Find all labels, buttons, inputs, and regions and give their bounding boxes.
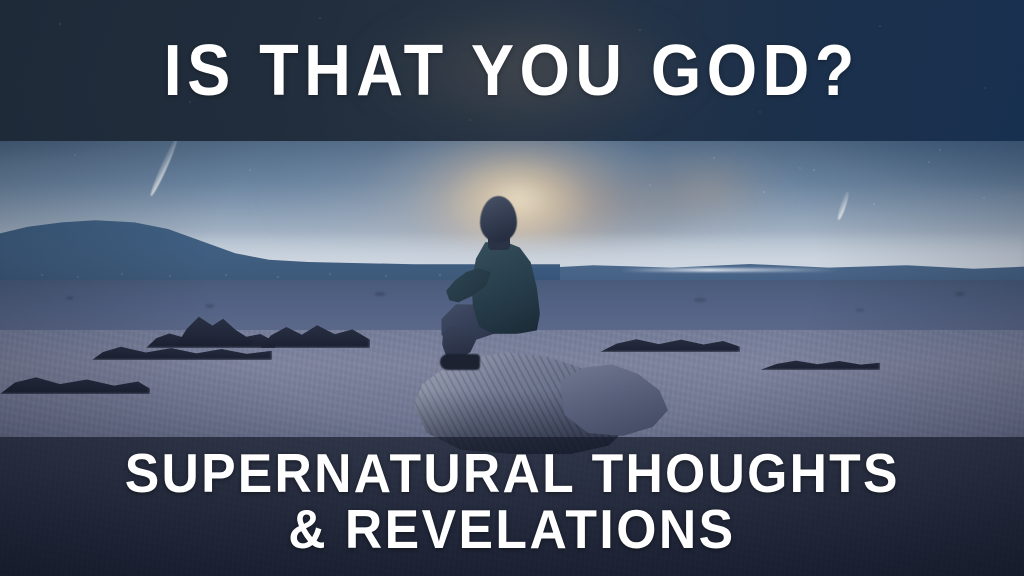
distant-town-lights <box>30 272 500 280</box>
seated-figure <box>440 196 560 372</box>
video-thumbnail: IS THAT YOU GOD? SUPERNATURAL THOUGHTS &… <box>0 0 1024 576</box>
caption-line-1: SUPERNATURAL THOUGHTS <box>124 445 899 501</box>
caption-line-2: & REVELATIONS <box>288 501 735 557</box>
figure-shoe <box>440 354 480 370</box>
figure-head <box>480 196 517 242</box>
shoreline-highlight <box>620 268 840 272</box>
star-field-right <box>694 140 1024 230</box>
caption-band: SUPERNATURAL THOUGHTS & REVELATIONS <box>0 437 1024 576</box>
page-title: IS THAT YOU GOD? <box>164 35 860 107</box>
title-bar: IS THAT YOU GOD? <box>0 0 1024 141</box>
